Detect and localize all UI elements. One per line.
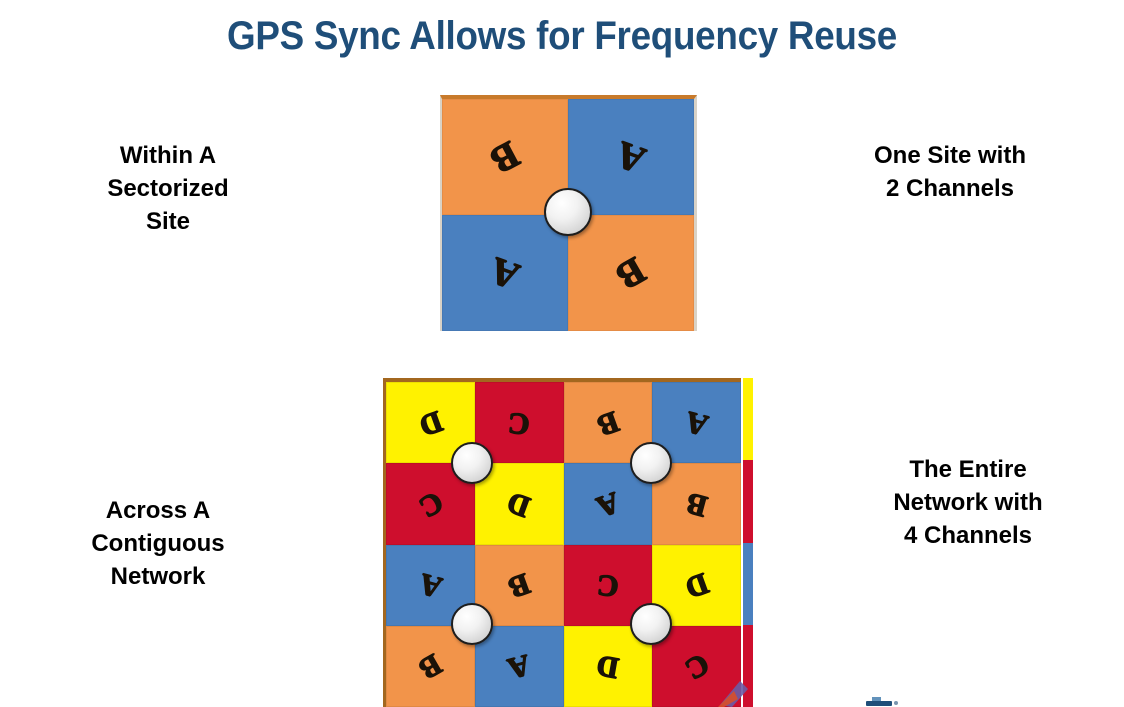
network-site-marker[interactable] bbox=[630, 442, 672, 484]
network-channel-label: C bbox=[507, 407, 531, 439]
sector-channel-label: B bbox=[485, 134, 525, 179]
cropped-arrow-graphic bbox=[718, 679, 748, 707]
network-channel-label: A bbox=[593, 486, 624, 522]
caption-line: Contiguous bbox=[8, 527, 308, 560]
network-site-marker[interactable] bbox=[630, 603, 672, 645]
network-channel-label: B bbox=[505, 568, 534, 603]
network-channel-label: D bbox=[681, 567, 712, 603]
caption-line: Network bbox=[8, 560, 308, 593]
network-edge-cell bbox=[743, 378, 753, 460]
network-channel-label: D bbox=[595, 650, 622, 683]
network-edge-cell bbox=[743, 543, 753, 625]
network-channel-label: C bbox=[596, 569, 620, 601]
network-edge-cell bbox=[743, 460, 753, 542]
network-channel-label: A bbox=[416, 568, 445, 603]
contiguous-network-diagram: DCBACDABABCDBADC bbox=[383, 378, 741, 707]
caption-line: The Entire bbox=[818, 453, 1118, 486]
caption-entire-network-4-channels: The Entire Network with 4 Channels bbox=[818, 453, 1118, 552]
network-cell[interactable]: A bbox=[475, 626, 564, 707]
cropped-logo-graphic bbox=[862, 694, 906, 707]
network-channel-label: C bbox=[413, 485, 447, 522]
caption-across-contiguous-network: Across A Contiguous Network bbox=[8, 494, 308, 593]
caption-line: 2 Channels bbox=[800, 172, 1100, 205]
network-site-marker[interactable] bbox=[451, 442, 493, 484]
sector-site-marker[interactable] bbox=[544, 188, 592, 236]
network-channel-label: B bbox=[593, 405, 622, 440]
network-channel-label: C bbox=[680, 648, 714, 685]
caption-line: Site bbox=[18, 205, 318, 238]
caption-line: Network with bbox=[818, 486, 1118, 519]
sector-cell[interactable]: B bbox=[568, 215, 694, 331]
network-channel-label: D bbox=[415, 405, 446, 441]
caption-line: Within A bbox=[18, 139, 318, 172]
network-channel-label: B bbox=[414, 648, 446, 684]
caption-line: One Site with bbox=[800, 139, 1100, 172]
caption-line: Across A bbox=[8, 494, 308, 527]
network-site-marker[interactable] bbox=[451, 603, 493, 645]
network-diagram-edge-sliver bbox=[743, 378, 753, 707]
sector-cell[interactable]: A bbox=[442, 215, 568, 331]
page-title: GPS Sync Allows for Frequency Reuse bbox=[45, 14, 1079, 58]
caption-within-sectorized-site: Within A Sectorized Site bbox=[18, 139, 318, 238]
network-channel-label: A bbox=[505, 649, 534, 684]
caption-line: 4 Channels bbox=[818, 519, 1118, 552]
network-channel-label: D bbox=[504, 486, 535, 522]
caption-line: Sectorized bbox=[18, 172, 318, 205]
sector-channel-label: B bbox=[611, 250, 652, 296]
network-channel-label: A bbox=[682, 405, 711, 440]
sector-channel-label: A bbox=[612, 134, 651, 179]
network-channel-label: B bbox=[683, 487, 710, 521]
sector-channel-label: A bbox=[486, 250, 525, 295]
caption-one-site-2-channels: One Site with 2 Channels bbox=[800, 139, 1100, 205]
